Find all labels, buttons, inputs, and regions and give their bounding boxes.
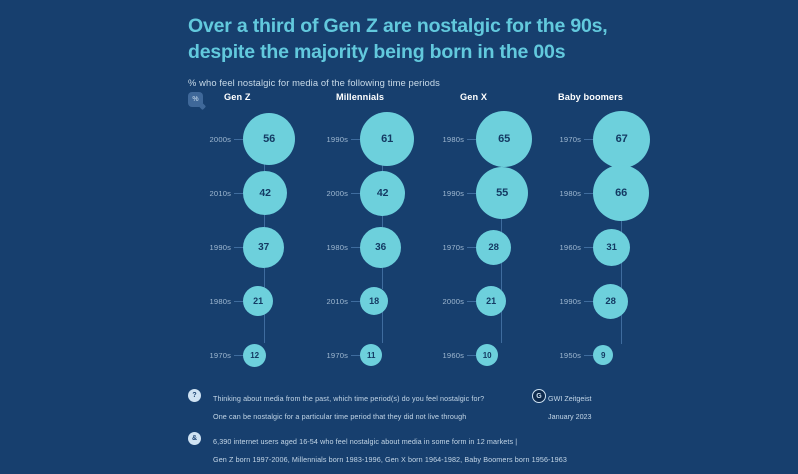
bubble-wrap: 42: [243, 166, 306, 220]
connector-line: [467, 247, 476, 248]
bubble-value: 65: [476, 111, 532, 167]
bubble-value: 61: [360, 112, 414, 166]
bubble-cell: 1990s 37: [188, 220, 306, 274]
bubble-label: 1990s: [538, 297, 584, 306]
footnotes: ? Thinking about media from the past, wh…: [188, 388, 658, 474]
bubble-label: 1980s: [538, 189, 584, 198]
connector-line: [351, 301, 360, 302]
connector-line: [467, 139, 476, 140]
source-text: GWI Zeitgeist January 2023: [548, 394, 592, 421]
bubble-value: 12: [243, 344, 266, 367]
bubble-value: 55: [476, 167, 528, 219]
bubble-cell: 1990s 61: [305, 112, 423, 166]
bubble-label: 1970s: [538, 135, 584, 144]
chart-columns: 2000s 56 2010s 42 1990s: [188, 112, 658, 374]
bubble-cell: 1990s 55: [421, 166, 539, 220]
bubble-value: 11: [360, 344, 382, 366]
bubble-value: 28: [476, 230, 511, 265]
bubble-value: 36: [360, 227, 401, 268]
bubble-cell: 2000s 21: [421, 274, 539, 328]
bubble-cell: 1980s 66: [538, 166, 656, 220]
bubble-cell: 1950s 9: [538, 328, 656, 382]
column-header-gen-x: Gen X: [460, 92, 487, 102]
bubble-wrap: 55: [476, 166, 539, 220]
connector-line: [584, 193, 593, 194]
bubble-wrap: 42: [360, 166, 423, 220]
bubble-label: 2000s: [188, 135, 234, 144]
connector-line: [467, 193, 476, 194]
bubble-value: 9: [593, 345, 613, 365]
bubble-label: 1970s: [305, 351, 351, 360]
header: Over a third of Gen Z are nostalgic for …: [188, 14, 658, 88]
connector-line: [234, 247, 243, 248]
column-header-millennials: Millennials: [336, 92, 384, 102]
bubble-wrap: 10: [476, 328, 539, 382]
column-header-baby-boomers: Baby boomers: [558, 92, 623, 102]
bubble-label: 1980s: [188, 297, 234, 306]
bubble-value: 42: [360, 171, 405, 216]
bubble-cell: 2000s 42: [305, 166, 423, 220]
bubble-cell: 2000s 56: [188, 112, 306, 166]
question-note-text: Thinking about media from the past, whic…: [213, 394, 484, 421]
percent-badge-icon: %: [188, 92, 203, 107]
connector-line: [351, 193, 360, 194]
bubble-value: 42: [243, 171, 287, 215]
bubble-cell: 2010s 18: [305, 274, 423, 328]
question-mark-icon: ?: [188, 389, 201, 402]
bubble-value: 10: [476, 344, 498, 366]
source-attribution: G GWI Zeitgeist January 2023: [532, 388, 592, 424]
bubble-wrap: 37: [243, 220, 306, 274]
column-millennials: 1990s 61 2000s 42 1980s: [305, 112, 423, 374]
sample-note: & 6,390 internet users aged 16-54 who fe…: [188, 431, 658, 467]
bubble-wrap: 66: [593, 166, 656, 220]
bubble-cell: 1960s 31: [538, 220, 656, 274]
bubble-wrap: 18: [360, 274, 423, 328]
bubble-chart: % Gen Z Millennials Gen X Baby boomers 2…: [188, 92, 658, 377]
connector-line: [467, 355, 476, 356]
bubble-wrap: 11: [360, 328, 423, 382]
bubble-value: 56: [243, 113, 295, 165]
column-headers: % Gen Z Millennials Gen X Baby boomers: [188, 92, 658, 112]
bubble-cell: 1990s 28: [538, 274, 656, 328]
connector-line: [351, 247, 360, 248]
connector-line: [584, 301, 593, 302]
connector-line: [351, 355, 360, 356]
bubble-wrap: 36: [360, 220, 423, 274]
connector-line: [467, 301, 476, 302]
audience-icon: &: [188, 432, 201, 445]
bubble-wrap: 9: [593, 328, 656, 382]
bubble-label: 1980s: [421, 135, 467, 144]
bubble-value: 21: [243, 286, 273, 316]
connector-line: [234, 355, 243, 356]
bubble-label: 1990s: [421, 189, 467, 198]
bubble-value: 18: [360, 287, 388, 315]
bubble-label: 1970s: [188, 351, 234, 360]
bubble-value: 37: [243, 227, 284, 268]
bubble-label: 1990s: [305, 135, 351, 144]
bubble-wrap: 67: [593, 112, 656, 166]
connector-line: [234, 193, 243, 194]
bubble-cell: 1970s 11: [305, 328, 423, 382]
bubble-wrap: 61: [360, 112, 423, 166]
connector-line: [584, 247, 593, 248]
bubble-label: 1950s: [538, 351, 584, 360]
connector-line: [234, 301, 243, 302]
bubble-value: 31: [593, 229, 630, 266]
bubble-cell: 1980s 65: [421, 112, 539, 166]
connector-line: [234, 139, 243, 140]
bubble-label: 1970s: [421, 243, 467, 252]
sample-note-text: 6,390 internet users aged 16-54 who feel…: [213, 437, 567, 464]
bubble-cell: 1980s 21: [188, 274, 306, 328]
bubble-label: 1980s: [305, 243, 351, 252]
bubble-cell: 2010s 42: [188, 166, 306, 220]
bubble-wrap: 28: [476, 220, 539, 274]
bubble-label: 1960s: [421, 351, 467, 360]
bubble-value: 66: [593, 165, 649, 221]
gwi-logo-icon: G: [532, 389, 546, 403]
bubble-wrap: 12: [243, 328, 306, 382]
bubble-label: 2010s: [188, 189, 234, 198]
column-header-gen-z: Gen Z: [224, 92, 251, 102]
page-title: Over a third of Gen Z are nostalgic for …: [188, 14, 658, 65]
bubble-cell: 1960s 10: [421, 328, 539, 382]
bubble-label: 1990s: [188, 243, 234, 252]
bubble-cell: 1970s 28: [421, 220, 539, 274]
bubble-cell: 1970s 12: [188, 328, 306, 382]
bubble-wrap: 21: [243, 274, 306, 328]
bubble-value: 21: [476, 286, 506, 316]
bubble-value: 67: [593, 111, 650, 168]
bubble-label: 2000s: [421, 297, 467, 306]
bubble-value: 28: [593, 284, 628, 319]
page-subtitle: % who feel nostalgic for media of the fo…: [188, 77, 658, 88]
column-gen-z: 2000s 56 2010s 42 1990s: [188, 112, 306, 374]
connector-line: [584, 139, 593, 140]
bubble-label: 2010s: [305, 297, 351, 306]
bubble-wrap: 65: [476, 112, 539, 166]
bubble-wrap: 56: [243, 112, 306, 166]
bubble-label: 2000s: [305, 189, 351, 198]
bubble-cell: 1970s 67: [538, 112, 656, 166]
column-baby-boomers: 1970s 67 1980s 66 1960s: [538, 112, 656, 374]
bubble-wrap: 21: [476, 274, 539, 328]
bubble-label: 1960s: [538, 243, 584, 252]
bubble-wrap: 31: [593, 220, 656, 274]
bubble-cell: 1980s 36: [305, 220, 423, 274]
bubble-wrap: 28: [593, 274, 656, 328]
connector-line: [351, 139, 360, 140]
connector-line: [584, 355, 593, 356]
column-gen-x: 1980s 65 1990s 55 1970s: [421, 112, 539, 374]
infographic-canvas: Over a third of Gen Z are nostalgic for …: [0, 0, 798, 449]
